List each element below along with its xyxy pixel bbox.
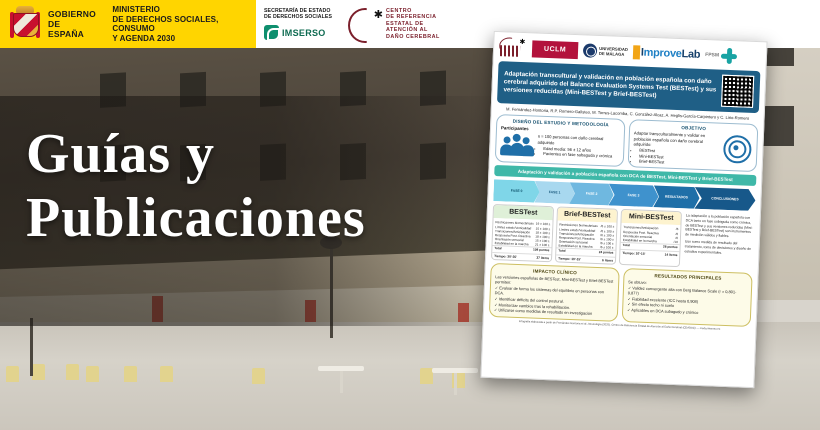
- patio-chair: [160, 366, 173, 382]
- patio-table-leg: [454, 373, 457, 395]
- objective-text: Adaptar transculturalmente y validar en …: [633, 131, 720, 150]
- flow-step-1: FASE 1: [534, 181, 575, 205]
- creda-arc-icon: [348, 6, 382, 42]
- main-results-card: RESULTADOS PRINCIPALES Se obtuvo: ✓ Vali…: [622, 268, 753, 327]
- objective-details: Adaptar transculturalmente y validar en …: [633, 131, 720, 167]
- gobierno-de-espana-label: GOBIERNO DE ESPAÑA: [48, 9, 96, 39]
- patio-chair: [6, 366, 19, 382]
- title-line-1: Guías y: [26, 123, 215, 185]
- patio-chair: [124, 366, 137, 382]
- universidad-malaga-logo-icon: UNIVERSIDADDE MÁLAGA: [583, 43, 628, 59]
- title-line-2: Publicaciones: [26, 186, 496, 250]
- test-footer-bestest: Tiempo: 30'-35'37 ítems: [492, 252, 551, 261]
- test-footer-mini: Tiempo: 10'-15'14 ítems: [620, 249, 679, 258]
- participants-icon: [500, 133, 535, 160]
- target-icon: [722, 134, 753, 165]
- tests-comparison: BESTest Restricciones biomecánicas19 ± 1…: [491, 204, 755, 270]
- test-footer-brief: Tiempo: 10'-15'6 ítems: [556, 254, 615, 263]
- test-column-brief-bestest: Brief-BESTest Restricciones biomecánicas…: [555, 207, 618, 265]
- flow-step-3: FASE 3: [608, 184, 659, 208]
- qr-code-icon[interactable]: [721, 75, 754, 108]
- research-poster[interactable]: ✱ UCLM UNIVERSIDADDE MÁLAGA ImproveLab F…: [480, 31, 767, 388]
- spain-coat-of-arms-icon: [10, 6, 40, 42]
- patio-chair: [32, 364, 45, 380]
- clinical-impact-card: IMPACTO CLÍNICO Las versiones españolas …: [489, 263, 620, 322]
- imserso-label: IMSERSO: [282, 28, 326, 38]
- flow-step-0: FASE 0: [493, 179, 540, 203]
- espana-line: DE ESPAÑA: [48, 19, 96, 39]
- conclusions-column: La adaptación a la población española co…: [683, 212, 755, 270]
- patio-chair: [86, 366, 99, 382]
- poster-title: Adaptación transcultural y validación en…: [503, 70, 717, 103]
- secretaria-estado-block: SECRETARÍA DE ESTADO DE DERECHOS SOCIALE…: [264, 8, 336, 41]
- page-title: Guías y Publicaciones: [26, 122, 496, 250]
- creda-wordmark: CENTRO DE REFERENCIA ESTATAL DE ATENCIÓN…: [386, 8, 440, 41]
- ministerio-label: MINISTERIO DE DERECHOS SOCIALES, CONSUMO…: [112, 5, 256, 43]
- lamp-post: [30, 318, 33, 376]
- participants-details: n = 100 personas con daño cerebral adqui…: [537, 134, 620, 159]
- gobierno-line: GOBIERNO: [48, 9, 96, 19]
- flow-step-conclusions: CONCLUSIONES: [694, 187, 756, 211]
- poster-title-band: Adaptación transcultural y validación en…: [497, 61, 760, 113]
- banner-yellow-section: GOBIERNO DE ESPAÑA MINISTERIO DE DERECHO…: [0, 0, 256, 48]
- test-column-mini-bestest: Mini-BESTest Transiciones/Anticipación/6…: [619, 209, 682, 267]
- test-column-bestest: BESTest Restricciones biomecánicas19 ± 1…: [491, 204, 554, 262]
- objective-card: OBJETIVO Adaptar transculturalmente y va…: [628, 120, 759, 173]
- creda-logo: CENTRO DE REFERENCIA ESTATAL DE ATENCIÓN…: [344, 6, 440, 42]
- patio-table-leg: [340, 371, 343, 393]
- patio-chair: [252, 368, 265, 384]
- main-results-body: Se obtuvo: ✓ Validez convergente alta co…: [627, 279, 747, 317]
- conclusions-p2: Uso como medida de resultado del tratami…: [684, 240, 752, 256]
- creda-logo-icon: ✱: [499, 37, 528, 58]
- imserso-mark-icon: [264, 25, 279, 40]
- fpsm-logo-icon: FPSM: [705, 47, 737, 64]
- clinical-impact-body: Las versiones españolas de BESTest, Mini…: [494, 274, 614, 317]
- imserso-logo: IMSERSO: [264, 25, 332, 40]
- flow-step-2: FASE 2: [569, 182, 614, 206]
- improvelab-logo-icon: ImproveLab: [633, 45, 701, 62]
- uclm-logo-icon: UCLM: [532, 40, 579, 59]
- flow-step-results: RESULTADOS: [653, 186, 700, 210]
- patio-chair: [66, 364, 79, 380]
- study-design-card: DISEÑO DEL ESTUDIO Y METODOLOGÍA Partici…: [495, 114, 626, 167]
- hero-slide: GOBIERNO DE ESPAÑA MINISTERIO DE DERECHO…: [0, 0, 820, 430]
- conclusions-p1: La adaptación a la población española co…: [685, 214, 754, 240]
